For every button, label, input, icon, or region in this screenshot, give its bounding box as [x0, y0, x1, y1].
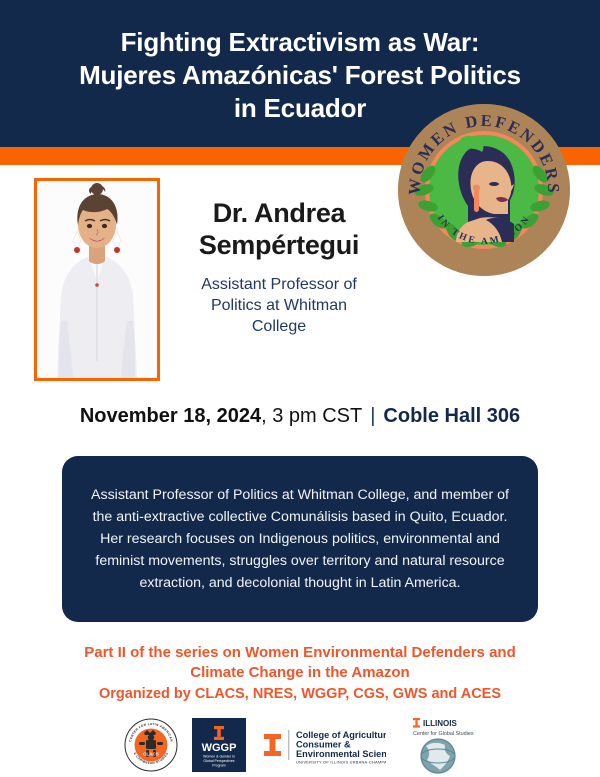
- title-line-1: Fighting Extractivism as War:: [30, 26, 570, 59]
- svg-text:College of Agricultural,: College of Agricultural,: [296, 730, 386, 740]
- speaker-name-line-1: Dr. Andrea: [168, 198, 390, 230]
- sponsor-logo-row: CLACS CENTER FOR LATIN AMERICAN & CARIBB…: [0, 712, 600, 777]
- speaker-photo: [34, 178, 160, 381]
- speaker-name-line-2: Sempértegui: [168, 230, 390, 262]
- svg-text:Women & Gender in: Women & Gender in: [203, 754, 235, 758]
- speaker-bio-text: Assistant Professor of Politics at Whitm…: [86, 484, 514, 594]
- clacs-acronym: CLACS: [143, 751, 159, 756]
- clacs-logo: CLACS CENTER FOR LATIN AMERICAN & CARIBB…: [124, 718, 178, 772]
- datetime-separator: |: [362, 405, 383, 427]
- event-date: November 18, 2024: [80, 405, 261, 427]
- illinois-block-i-icon: [413, 718, 420, 728]
- speaker-bio-panel: Assistant Professor of Politics at Whitm…: [62, 456, 538, 622]
- svg-text:Program: Program: [212, 763, 226, 767]
- speaker-affiliation-line-1: Assistant Professor of: [168, 274, 390, 295]
- center-for-global-studies-logo: ILLINOIS Center for Global Studies: [400, 714, 476, 776]
- globe-icon: [421, 739, 455, 773]
- illinois-wordmark: ILLINOIS: [423, 719, 457, 728]
- event-time: , 3 pm CST: [261, 405, 362, 427]
- wggp-logo: WGGP Women & Gender in Global Perspectiv…: [192, 718, 246, 772]
- svg-text:Consumer &: Consumer &: [296, 739, 351, 749]
- series-description: Part II of the series on Women Environme…: [0, 643, 600, 683]
- event-venue: Coble Hall 306: [383, 405, 520, 427]
- speaker-affiliation: Assistant Professor of Politics at Whitm…: [168, 274, 390, 337]
- svg-text:Center for Global Studies: Center for Global Studies: [413, 731, 474, 737]
- svg-text:UNIVERSITY OF ILLINOIS URBANA-: UNIVERSITY OF ILLINOIS URBANA-CHAMPAIGN: [296, 759, 386, 764]
- wggp-acronym: WGGP: [202, 742, 237, 754]
- series-line-2: Climate Change in the Amazon: [0, 663, 600, 683]
- speaker-affiliation-line-3: College: [168, 316, 390, 337]
- speaker-affiliation-line-2: Politics at Whitman: [168, 295, 390, 316]
- title-line-2: Mujeres Amazónicas' Forest Politics: [30, 59, 570, 92]
- illinois-block-i-icon: [264, 734, 281, 756]
- organizers-text: Organized by CLACS, NRES, WGGP, CGS, GWS…: [0, 685, 600, 704]
- event-poster: Fighting Extractivism as War: Mujeres Am…: [0, 0, 600, 777]
- speaker-name: Dr. Andrea Sempértegui: [168, 198, 390, 262]
- event-datetime-venue: November 18, 2024, 3 pm CST|Coble Hall 3…: [0, 404, 600, 428]
- series-line-1: Part II of the series on Women Environme…: [0, 643, 600, 663]
- speaker-details: Dr. Andrea Sempértegui Assistant Profess…: [168, 198, 390, 337]
- svg-text:Global Perspectives: Global Perspectives: [203, 759, 234, 763]
- svg-text:Environmental Sciences: Environmental Sciences: [296, 749, 386, 759]
- aces-logo: College of Agricultural, Consumer & Envi…: [260, 721, 386, 769]
- women-defenders-badge-icon: WOMEN DEFENDERS IN THE AMAZON: [398, 104, 570, 276]
